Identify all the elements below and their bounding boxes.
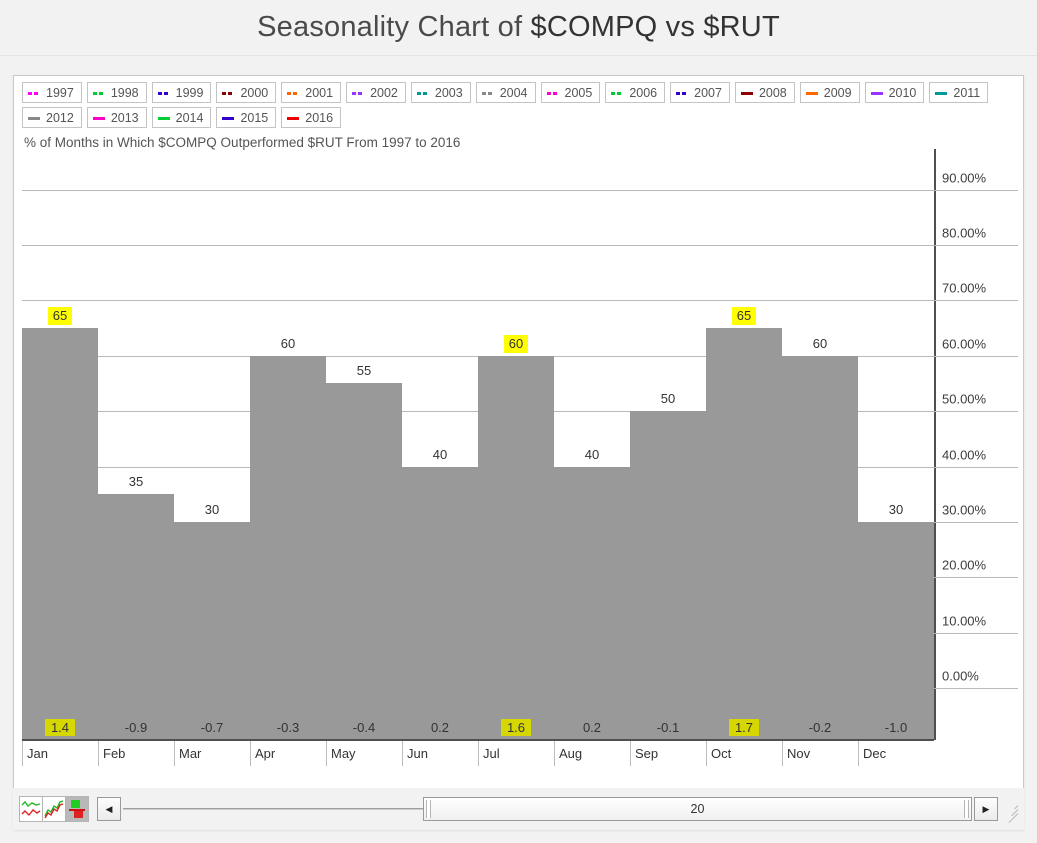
bar[interactable] (782, 356, 858, 740)
legend-item-2002[interactable]: 2002 (346, 82, 406, 103)
y-axis: 90.00%80.00%70.00%60.00%50.00%40.00%30.0… (934, 162, 1018, 740)
legend-item-2005[interactable]: 2005 (541, 82, 601, 103)
scroll-left-button[interactable]: ◀ (97, 797, 121, 821)
bar-column[interactable]: 30 (858, 162, 934, 740)
secondary-value-text: 0.2 (583, 720, 601, 735)
bar-column[interactable]: 60 (250, 162, 326, 740)
secondary-value-text: -0.2 (809, 720, 831, 735)
y-tick-mark (934, 245, 1018, 246)
legend-item-2011[interactable]: 2011 (929, 82, 988, 103)
scrollbar-track[interactable]: 20 (123, 797, 972, 821)
month-label-jan: Jan (22, 741, 98, 766)
legend-item-2015[interactable]: 2015 (216, 107, 276, 128)
y-tick-label: 20.00% (942, 558, 986, 573)
bar[interactable] (326, 383, 402, 740)
month-label-sep: Sep (630, 741, 706, 766)
legend-item-2016[interactable]: 2016 (281, 107, 341, 128)
bar-value-text: 60 (813, 336, 827, 351)
bar-value-text: 35 (129, 474, 143, 489)
bar-column[interactable]: 40 (554, 162, 630, 740)
legend-marker-icon (871, 88, 885, 98)
scroll-right-button[interactable]: ▶ (974, 797, 998, 821)
legend-item-label: 2002 (370, 86, 398, 100)
legend-item-label: 2005 (565, 86, 593, 100)
bar-value-label: 55 (326, 363, 402, 378)
secondary-value-cell: -0.7 (174, 714, 250, 740)
y-tick-mark (934, 411, 1018, 412)
legend-marker-icon (93, 113, 107, 123)
bar-value-label: 40 (402, 447, 478, 462)
month-label-aug: Aug (554, 741, 630, 766)
legend-item-label: 2004 (500, 86, 528, 100)
y-tick-mark (934, 356, 1018, 357)
legend-item-2012[interactable]: 2012 (22, 107, 82, 128)
bar-value-label: 60 (478, 336, 554, 351)
secondary-value-text: -0.4 (353, 720, 375, 735)
y-tick-label: 30.00% (942, 502, 986, 517)
secondary-value-text: 1.7 (729, 719, 759, 736)
y-tick-label: 10.00% (942, 613, 986, 628)
chart-type-buttons (19, 796, 88, 822)
line-chart-icon[interactable] (19, 796, 43, 822)
secondary-value-cell: -0.4 (326, 714, 402, 740)
month-label-mar: Mar (174, 741, 250, 766)
plot-area: 653530605540604050656030 90.00%80.00%70.… (14, 154, 1023, 766)
legend-marker-icon (28, 88, 42, 98)
secondary-value-text: 1.6 (501, 719, 531, 736)
legend-item-label: 2007 (694, 86, 722, 100)
secondary-value-cell: -1.0 (858, 714, 934, 740)
legend-item-label: 2008 (759, 86, 787, 100)
bar-value-label: 65 (706, 308, 782, 323)
secondary-value-text: -0.3 (277, 720, 299, 735)
legend-item-2013[interactable]: 2013 (87, 107, 147, 128)
secondary-value-text: -0.1 (657, 720, 679, 735)
legend-marker-icon (287, 113, 301, 123)
legend-marker-icon (93, 88, 107, 98)
y-tick-label: 90.00% (942, 170, 986, 185)
legend-marker-icon (741, 88, 755, 98)
legend-marker-icon (611, 88, 625, 98)
bar-column[interactable]: 65 (22, 162, 98, 740)
legend-item-2014[interactable]: 2014 (152, 107, 212, 128)
legend-item-2009[interactable]: 2009 (800, 82, 860, 103)
bar[interactable] (98, 494, 174, 740)
resize-grip-icon[interactable] (1004, 802, 1018, 816)
secondary-value-row: 1.4-0.9-0.7-0.3-0.40.21.60.2-0.11.7-0.2-… (22, 714, 934, 740)
seasonality-chart-app: Seasonality Chart of $COMPQ vs $RUT 1997… (0, 0, 1037, 843)
legend-marker-icon (547, 88, 561, 98)
y-tick-label: 80.00% (942, 226, 986, 241)
legend-marker-icon (417, 88, 431, 98)
legend-marker-icon (676, 88, 690, 98)
legend-marker-icon (158, 113, 172, 123)
secondary-value-text: -0.9 (125, 720, 147, 735)
legend-item-label: 2015 (240, 111, 268, 125)
bar[interactable] (858, 522, 934, 740)
bar-chart-icon[interactable] (65, 796, 89, 822)
chart-panel: 1997199819992000200120022003200420052006… (13, 75, 1024, 830)
secondary-value-cell: -0.9 (98, 714, 174, 740)
bar[interactable] (22, 328, 98, 740)
bar-value-text: 60 (281, 336, 295, 351)
legend-item-label: 2012 (46, 111, 74, 125)
bar-column[interactable]: 30 (174, 162, 250, 740)
month-label-jun: Jun (402, 741, 478, 766)
legend-item-2004[interactable]: 2004 (476, 82, 536, 103)
month-label-row: JanFebMarAprMayJunJulAugSepOctNovDec (22, 741, 1022, 766)
legend-item-1997[interactable]: 1997 (22, 82, 82, 103)
bar-value-label: 50 (630, 391, 706, 406)
bar-value-text: 65 (732, 307, 756, 325)
month-label-feb: Feb (98, 741, 174, 766)
secondary-value-cell: -0.3 (250, 714, 326, 740)
legend-item-label: 2011 (953, 86, 980, 100)
month-label-dec: Dec (858, 741, 934, 766)
legend-marker-icon (482, 88, 496, 98)
bar-value-text: 65 (48, 307, 72, 325)
scrollbar-thumb[interactable]: 20 (423, 797, 972, 821)
legend-item-label: 2016 (305, 111, 333, 125)
bar-value-text: 60 (504, 335, 528, 353)
legend-item-2000[interactable]: 2000 (216, 82, 276, 103)
secondary-value-cell: 1.7 (706, 714, 782, 740)
y-tick-label: 70.00% (942, 281, 986, 296)
legend-item-label: 2013 (111, 111, 139, 125)
secondary-value-cell: 1.4 (22, 714, 98, 740)
chart-subtitle: % of Months in Which $COMPQ Outperformed… (14, 130, 1023, 154)
secondary-value-text: -0.7 (201, 720, 223, 735)
legend-item-label: 2003 (435, 86, 463, 100)
legend-item-label: 1997 (46, 86, 74, 100)
y-tick-mark (934, 522, 1018, 523)
page-title-prefix: Seasonality Chart of (257, 11, 530, 43)
bar-value-text: 40 (585, 447, 599, 462)
month-label-jul: Jul (478, 741, 554, 766)
bar-column[interactable]: 60 (782, 162, 858, 740)
y-tick-label: 40.00% (942, 447, 986, 462)
legend-marker-icon (935, 88, 949, 98)
month-label-oct: Oct (706, 741, 782, 766)
secondary-value-cell: 0.2 (554, 714, 630, 740)
legend-item-2008[interactable]: 2008 (735, 82, 795, 103)
page-title-symbols: $COMPQ vs $RUT (531, 11, 780, 43)
legend-item-1998[interactable]: 1998 (87, 82, 147, 103)
y-tick-mark (934, 577, 1018, 578)
bar-column[interactable]: 35 (98, 162, 174, 740)
legend-item-label: 1999 (176, 86, 204, 100)
performance-chart-icon[interactable] (42, 796, 66, 822)
bar-column[interactable]: 65 (706, 162, 782, 740)
legend-item-label: 2014 (176, 111, 204, 125)
bar-column[interactable]: 40 (402, 162, 478, 740)
bar-value-text: 30 (205, 502, 219, 517)
y-tick-mark (934, 190, 1018, 191)
legend-marker-icon (222, 113, 236, 123)
legend-item-2006[interactable]: 2006 (605, 82, 665, 103)
bar-value-label: 65 (22, 308, 98, 323)
bar-value-text: 30 (889, 502, 903, 517)
legend-item-label: 1998 (111, 86, 139, 100)
legend-marker-icon (158, 88, 172, 98)
legend-item-label: 2001 (305, 86, 333, 100)
y-tick-label: 0.00% (942, 669, 979, 684)
y-tick-mark (934, 633, 1018, 634)
bottom-toolbar: ◀ 20 ▶ (13, 788, 1024, 830)
bar-series: 653530605540604050656030 (22, 162, 934, 740)
legend-item-label: 2009 (824, 86, 852, 100)
page-title: Seasonality Chart of $COMPQ vs $RUT (257, 11, 780, 44)
bar[interactable] (174, 522, 250, 740)
bar-value-text: 40 (433, 447, 447, 462)
legend-item-2003[interactable]: 2003 (411, 82, 471, 103)
legend-marker-icon (352, 88, 366, 98)
month-label-apr: Apr (250, 741, 326, 766)
y-tick-label: 60.00% (942, 336, 986, 351)
legend-item-1999[interactable]: 1999 (152, 82, 212, 103)
legend-item-label: 2006 (629, 86, 657, 100)
bar-column[interactable]: 55 (326, 162, 402, 740)
bar-value-label: 30 (858, 502, 934, 517)
bar-value-label: 60 (250, 336, 326, 351)
y-tick-mark (934, 467, 1018, 468)
secondary-value-text: -1.0 (885, 720, 907, 735)
secondary-value-cell: 1.6 (478, 714, 554, 740)
secondary-value-cell: -0.1 (630, 714, 706, 740)
y-tick-mark (934, 688, 1018, 689)
bar[interactable] (554, 467, 630, 740)
bar-value-label: 60 (782, 336, 858, 351)
bar-value-label: 30 (174, 502, 250, 517)
title-bar: Seasonality Chart of $COMPQ vs $RUT (0, 0, 1037, 56)
bar-column[interactable]: 60 (478, 162, 554, 740)
bar[interactable] (250, 356, 326, 740)
bar-column[interactable]: 50 (630, 162, 706, 740)
bar-value-label: 40 (554, 447, 630, 462)
legend-marker-icon (287, 88, 301, 98)
secondary-value-cell: 0.2 (402, 714, 478, 740)
bar[interactable] (402, 467, 478, 740)
legend-marker-icon (222, 88, 236, 98)
secondary-value-cell: -0.2 (782, 714, 858, 740)
legend-item-2007[interactable]: 2007 (670, 82, 730, 103)
legend-item-label: 2000 (240, 86, 268, 100)
legend-marker-icon (806, 88, 820, 98)
bar[interactable] (630, 411, 706, 740)
secondary-value-text: 1.4 (45, 719, 75, 736)
bar-value-text: 55 (357, 363, 371, 378)
month-label-may: May (326, 741, 402, 766)
legend-item-2010[interactable]: 2010 (865, 82, 925, 103)
legend-marker-icon (28, 113, 42, 123)
secondary-value-text: 0.2 (431, 720, 449, 735)
y-axis-line (934, 149, 936, 740)
bar-value-text: 50 (661, 391, 675, 406)
legend-item-label: 2010 (889, 86, 917, 100)
bar[interactable] (706, 328, 782, 740)
legend: 1997199819992000200120022003200420052006… (14, 76, 1023, 130)
bar[interactable] (478, 356, 554, 740)
y-tick-label: 50.00% (942, 392, 986, 407)
month-label-nov: Nov (782, 741, 858, 766)
y-tick-mark (934, 300, 1018, 301)
bar-value-label: 35 (98, 474, 174, 489)
legend-item-2001[interactable]: 2001 (281, 82, 341, 103)
bars-plot: 653530605540604050656030 (22, 162, 934, 740)
